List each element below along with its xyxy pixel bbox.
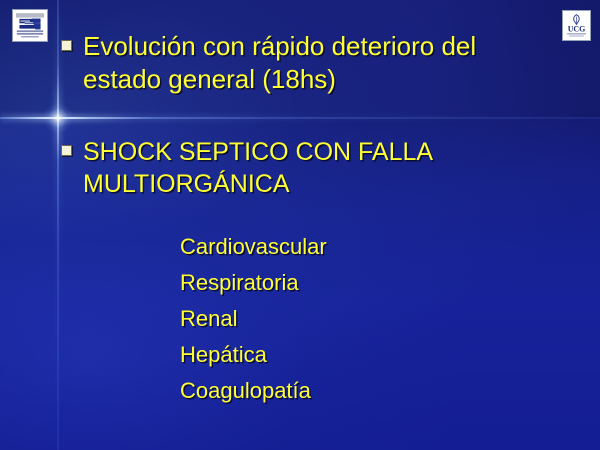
vertical-accent-line — [57, 0, 59, 450]
bullet-item-1: Evolución con rápido deterioro del estad… — [61, 30, 531, 96]
ucg-logo: UCG — [562, 10, 591, 41]
list-item: Respiratoria — [180, 272, 510, 308]
list-item: Coagulopatía — [180, 380, 510, 416]
sanatorio-pasteur-logo — [12, 9, 48, 42]
horizontal-accent-line — [0, 117, 600, 119]
square-bullet-icon — [61, 145, 72, 156]
bullet-item-2: SHOCK SEPTICO CON FALLA MULTIORGÁNICA — [61, 136, 531, 200]
svg-text:UCG: UCG — [568, 24, 586, 33]
list-item: Renal — [180, 308, 510, 344]
bullet-item-1-text: Evolución con rápido deterioro del estad… — [83, 30, 476, 96]
square-bullet-icon — [61, 40, 72, 51]
list-item: Hepática — [180, 344, 510, 380]
organ-failure-list: Cardiovascular Respiratoria Renal Hepáti… — [180, 236, 510, 416]
bullet-item-2-text: SHOCK SEPTICO CON FALLA MULTIORGÁNICA — [83, 136, 433, 200]
presentation-slide: UCG Evolución con rápido deterioro del e… — [0, 0, 600, 450]
list-item: Cardiovascular — [180, 236, 510, 272]
